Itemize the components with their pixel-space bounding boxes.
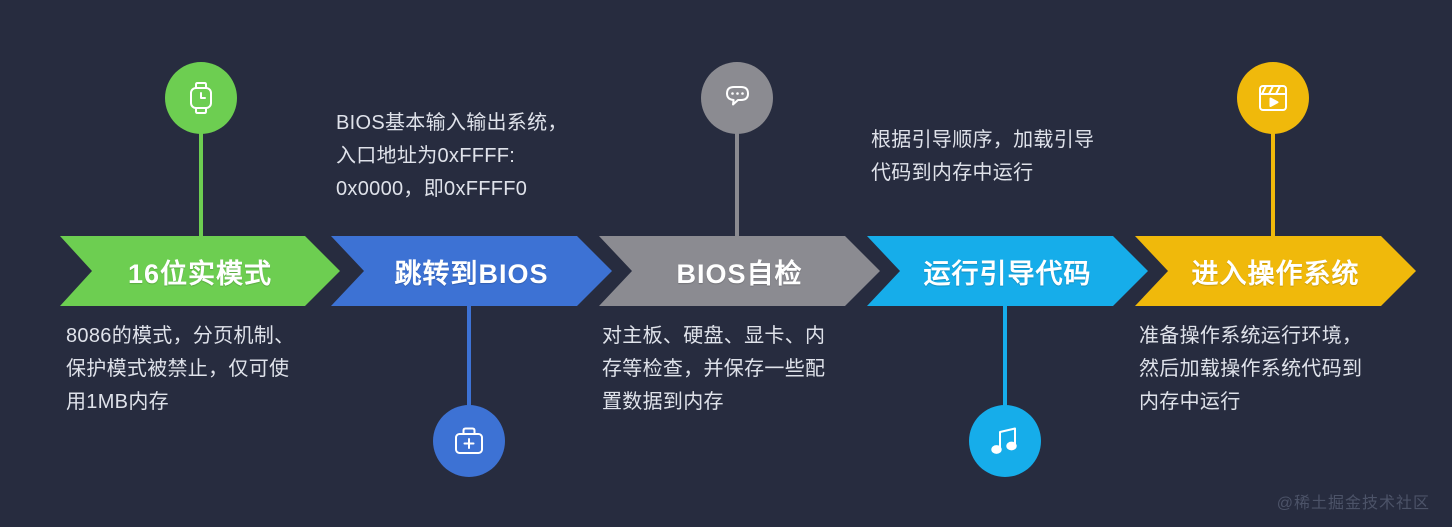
chevron-step-3[interactable]: BIOS自检 [599, 236, 880, 306]
badge-step-5[interactable] [1237, 62, 1309, 134]
badge-step-4[interactable] [969, 405, 1041, 477]
medical-kit-icon [450, 422, 488, 460]
note-step-1: 8086的模式，分页机制、 保护模式被禁止，仅可使 用1MB内存 [66, 320, 366, 419]
note-step-2: BIOS基本输入输出系统， 入口地址为0xFFFF: 0x0000，即0xFFF… [336, 107, 636, 206]
chevron-step-1[interactable]: 16位实模式 [60, 236, 340, 306]
chevron-step-5[interactable]: 进入操作系统 [1135, 236, 1416, 306]
chevron-label-step-2: 跳转到BIOS [394, 252, 548, 291]
note-step-5: 准备操作系统运行环境， 然后加载操作系统代码到 内存中运行 [1139, 320, 1439, 419]
process-chevron-band: 16位实模式 跳转到BIOS BIOS自检 运行引导代码 进入操作系统 [0, 236, 1452, 306]
stem-step-3 [735, 130, 739, 242]
badge-step-2[interactable] [433, 405, 505, 477]
chevron-label-step-5: 进入操作系统 [1192, 252, 1360, 291]
chat-bubbles-icon [717, 79, 757, 117]
note-step-3: 对主板、硬盘、显卡、内 存等检查，并保存一些配 置数据到内存 [602, 320, 902, 419]
stem-step-5 [1271, 130, 1275, 242]
chevron-label-step-1: 16位实模式 [128, 252, 272, 291]
note-step-4: 根据引导顺序，加载引导 代码到内存中运行 [871, 124, 1171, 190]
infographic-canvas: 16位实模式 跳转到BIOS BIOS自检 运行引导代码 进入操作系统 8086… [0, 0, 1452, 527]
watch-icon [182, 79, 220, 117]
chevron-step-2[interactable]: 跳转到BIOS [331, 236, 612, 306]
stem-step-4 [1003, 300, 1007, 412]
music-note-icon [987, 422, 1023, 460]
chevron-label-step-4: 运行引导代码 [924, 252, 1092, 291]
watermark: @稀土掘金技术社区 [1277, 489, 1430, 513]
clapperboard-icon [1253, 79, 1293, 117]
stem-step-2 [467, 300, 471, 412]
badge-step-1[interactable] [165, 62, 237, 134]
chevron-step-4[interactable]: 运行引导代码 [867, 236, 1148, 306]
stem-step-1 [199, 130, 203, 242]
chevron-label-step-3: BIOS自检 [676, 252, 802, 291]
badge-step-3[interactable] [701, 62, 773, 134]
